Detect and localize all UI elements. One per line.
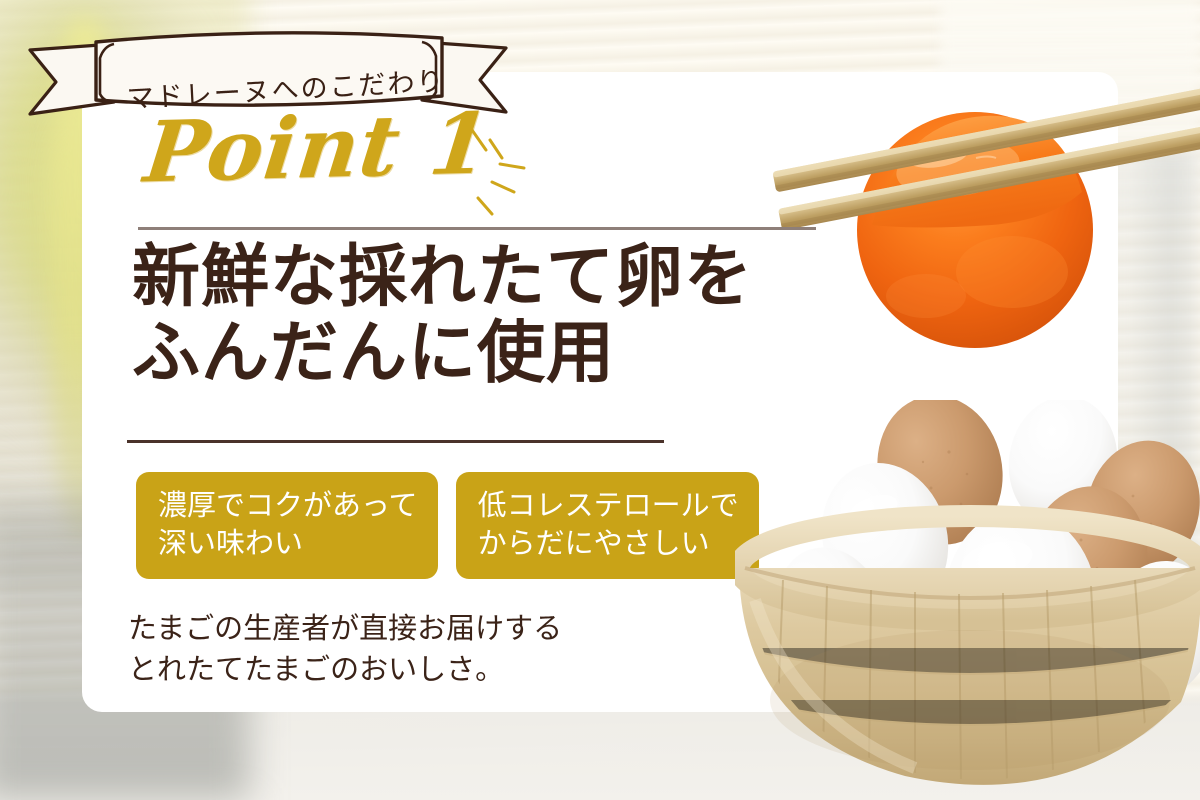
feature-badge-1-line-1: 濃厚でコクがあって <box>158 486 418 524</box>
description-line-2: とれたてたまごのおいしさ。 <box>128 649 562 690</box>
sparkle-icon <box>456 116 566 226</box>
headline: 新鮮な採れたて卵を ふんだんに使用 <box>132 240 753 392</box>
feature-badges: 濃厚でコクがあって 深い味わい 低コレステロールで からだにやさしい <box>136 472 759 579</box>
feature-badge-2-line-1: 低コレステロールで <box>478 486 739 524</box>
feature-badge-2-line-2: からだにやさしい <box>478 524 739 562</box>
egg-yolk-with-chopsticks-photo <box>760 40 1200 370</box>
divider-bottom <box>127 440 664 443</box>
bamboo-bowl-of-eggs-photo <box>735 400 1200 800</box>
ribbon-banner: マドレーヌへのこだわり <box>18 28 518 130</box>
headline-line-2: ふんだんに使用 <box>132 316 753 392</box>
description-line-1: たまごの生産者が直接お届けする <box>128 608 562 649</box>
feature-badge-1-line-2: 深い味わい <box>158 524 418 562</box>
feature-badge-2: 低コレステロールで からだにやさしい <box>456 472 759 579</box>
description: たまごの生産者が直接お届けする とれたてたまごのおいしさ。 <box>128 608 562 690</box>
headline-line-1: 新鮮な採れたて卵を <box>132 240 753 316</box>
feature-badge-1: 濃厚でコクがあって 深い味わい <box>136 472 438 579</box>
divider-top <box>138 227 816 230</box>
promo-banner: マドレーヌへのこだわり Point 1 新鮮な採れたて卵を ふんだんに使用 濃厚 <box>0 0 1200 800</box>
